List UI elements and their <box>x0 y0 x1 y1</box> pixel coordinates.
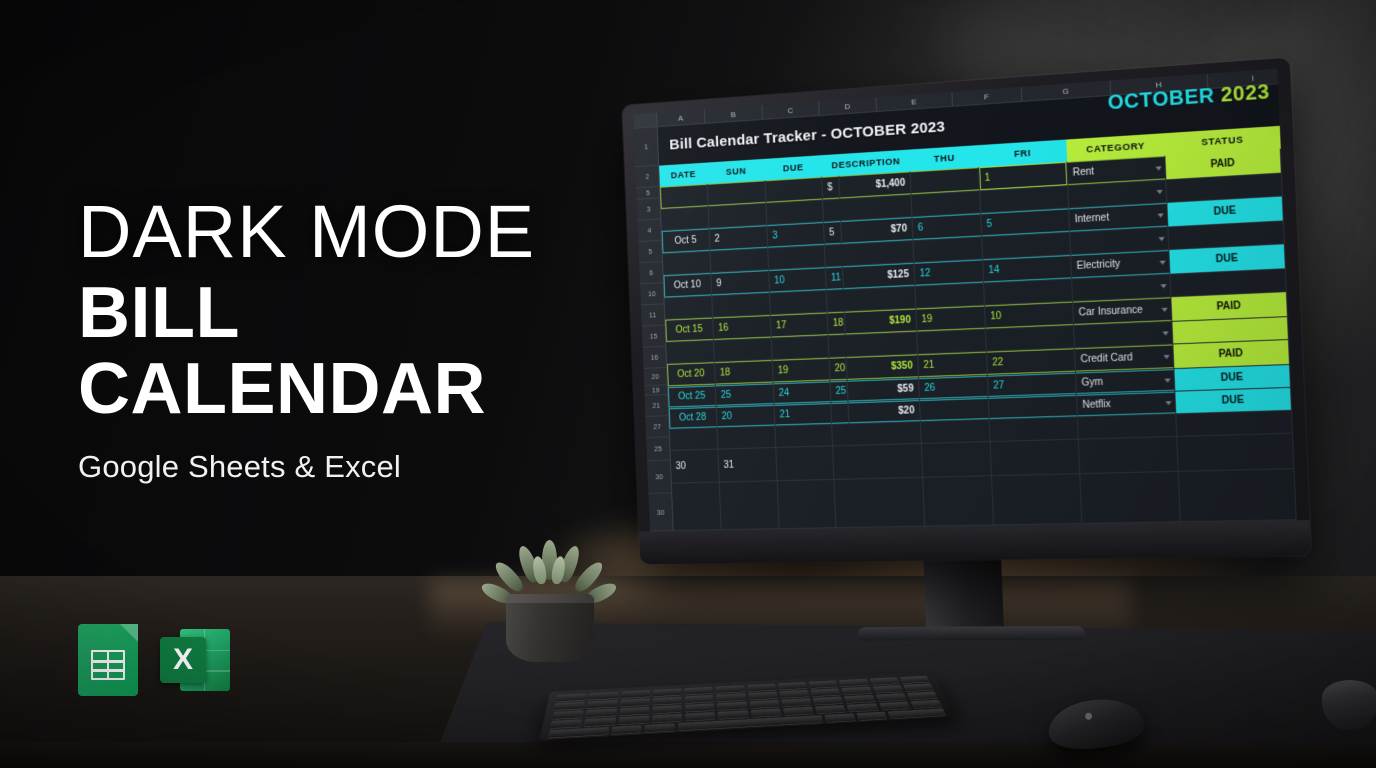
cell-due[interactable]: 17 <box>771 313 829 338</box>
monitor-stand-base <box>856 626 1087 641</box>
cell-date[interactable] <box>664 296 713 318</box>
cell-desc-day[interactable]: 5 <box>824 221 842 245</box>
cell-category[interactable] <box>1079 437 1179 473</box>
page-title-line-3: CALENDAR <box>78 351 638 427</box>
cell-desc-day[interactable]: 20 <box>829 357 847 380</box>
row-number[interactable]: 20 <box>643 368 666 386</box>
cell-date[interactable]: Oct 15 <box>665 318 714 342</box>
cell-amount[interactable] <box>829 332 918 356</box>
cell-thu[interactable]: 19 <box>916 306 986 332</box>
cell-sun[interactable]: 25 <box>716 383 775 405</box>
cell-amount[interactable]: $1,400 <box>839 171 911 198</box>
cell-status[interactable]: PAID <box>1171 292 1288 321</box>
row-number[interactable]: 25 <box>646 437 670 461</box>
cell-due[interactable]: 21 <box>775 403 833 425</box>
desk-scene: A B C D E F G H I J 1 <box>0 0 1376 768</box>
page-subtitle: Google Sheets & Excel <box>78 449 638 485</box>
desk-front-edge <box>0 742 1376 768</box>
cell-thu[interactable] <box>912 191 982 216</box>
cell-amount[interactable]: $70 <box>841 217 913 244</box>
row-number[interactable]: 15 <box>642 326 666 348</box>
cell-date[interactable]: 30 <box>670 450 719 483</box>
row-number[interactable]: 3 <box>637 198 661 220</box>
cell-due[interactable] <box>765 177 823 203</box>
cell-sun[interactable] <box>708 180 767 206</box>
cell-category-label: Credit Card <box>1080 352 1133 365</box>
cell-thu[interactable] <box>921 420 991 443</box>
cell-status[interactable]: DUE <box>1174 365 1291 391</box>
row-number[interactable]: 30 <box>647 461 671 494</box>
cell-category[interactable]: Electricity <box>1071 250 1170 278</box>
cell-thu[interactable] <box>920 398 990 421</box>
cell-desc-day[interactable]: 18 <box>828 312 846 335</box>
status-badge: DUE <box>1175 388 1291 413</box>
chevron-down-icon[interactable] <box>1158 236 1164 240</box>
monitor-stand-neck <box>923 551 1004 630</box>
cell-date[interactable] <box>672 483 722 530</box>
row-number[interactable]: 5 <box>638 241 662 263</box>
cell-category-label: Electricity <box>1076 259 1120 272</box>
cell-due[interactable]: 24 <box>774 381 832 404</box>
cell-amount[interactable]: $20 <box>848 400 920 423</box>
row-number[interactable]: 30 <box>648 493 672 531</box>
cell-category[interactable] <box>1074 322 1173 347</box>
cell-amount[interactable] <box>833 444 923 479</box>
cell-fri[interactable] <box>992 474 1082 524</box>
cell-amount[interactable] <box>827 287 916 312</box>
cell-fri[interactable]: 27 <box>988 373 1077 397</box>
chevron-down-icon[interactable] <box>1165 401 1171 405</box>
cell-due[interactable] <box>772 336 830 359</box>
row-number[interactable]: 1 <box>634 127 658 167</box>
cell-category[interactable] <box>1080 472 1181 523</box>
cell-thu[interactable] <box>915 283 985 307</box>
spreadsheet-app: A B C D E F G H I J 1 <box>633 69 1296 532</box>
cell-category[interactable]: Credit Card <box>1075 344 1174 371</box>
chevron-down-icon[interactable] <box>1161 307 1167 311</box>
table-body: $ $1,400 1 Rent PAID <box>660 149 1297 531</box>
cell-category[interactable] <box>1072 275 1171 301</box>
status-badge: DUE <box>1174 365 1290 391</box>
row-number[interactable]: 2 <box>635 166 659 189</box>
cell-date[interactable] <box>660 184 709 209</box>
cell-thu[interactable] <box>911 167 981 194</box>
cell-thu[interactable] <box>913 237 983 262</box>
microsoft-excel-logo: X <box>160 629 230 691</box>
chevron-down-icon[interactable] <box>1164 378 1170 382</box>
cell-sun[interactable]: 31 <box>718 448 777 482</box>
cell-thu[interactable]: 6 <box>912 213 982 240</box>
cell-currency-symbol[interactable]: $ <box>822 176 840 200</box>
cell-date[interactable]: Oct 20 <box>667 362 716 386</box>
cell-fri[interactable]: 14 <box>983 255 1072 282</box>
chevron-down-icon[interactable] <box>1163 354 1169 358</box>
cell-fri[interactable]: 22 <box>987 348 1076 374</box>
cell-sun[interactable]: 16 <box>713 315 772 340</box>
cell-date[interactable] <box>670 428 719 450</box>
cell-date[interactable] <box>663 252 712 275</box>
cell-sun[interactable]: 9 <box>711 270 770 295</box>
chevron-down-icon[interactable] <box>1155 166 1161 170</box>
cell-sun[interactable] <box>712 294 771 317</box>
status-badge: PAID <box>1173 340 1289 368</box>
cell-date[interactable]: Oct 10 <box>664 273 713 298</box>
marketing-copy: DARK MODE BILL CALENDAR Google Sheets & … <box>78 196 638 485</box>
cell-fri[interactable] <box>982 233 1071 259</box>
cell-due[interactable] <box>770 291 828 314</box>
succulent-plant <box>492 538 608 662</box>
cell-thu[interactable] <box>922 442 992 477</box>
cell-sun[interactable] <box>710 249 769 272</box>
plant-pot <box>506 594 594 662</box>
cell-status[interactable] <box>1179 469 1297 521</box>
cell-fri[interactable]: 10 <box>985 302 1074 329</box>
cell-category[interactable]: Car Insurance <box>1073 297 1172 325</box>
row-number[interactable]: 11 <box>641 304 665 326</box>
cell-status[interactable]: DUE <box>1175 388 1292 413</box>
cell-thu[interactable] <box>917 330 987 354</box>
cell-due[interactable]: 10 <box>769 267 827 292</box>
cell-amount[interactable]: $125 <box>843 263 915 289</box>
cell-category-label: Car Insurance <box>1078 305 1143 319</box>
status-badge: PAID <box>1171 292 1287 321</box>
cell-desc-day[interactable]: 11 <box>826 266 844 289</box>
select-all-corner[interactable] <box>633 113 657 128</box>
cell-fri[interactable] <box>990 417 1079 441</box>
cell-sun[interactable]: 20 <box>717 405 776 427</box>
cell-date[interactable]: Oct 5 <box>662 228 711 253</box>
monitor-bezel: A B C D E F G H I J 1 <box>622 57 1311 564</box>
cell-fri[interactable] <box>991 440 1081 476</box>
cell-amount[interactable]: $59 <box>848 378 920 401</box>
monitor: A B C D E F G H I J 1 <box>622 57 1311 564</box>
cell-amount[interactable]: $190 <box>845 309 917 335</box>
excel-x-glyph: X <box>160 637 206 683</box>
cell-sun[interactable] <box>709 204 768 228</box>
cell-due[interactable] <box>768 246 826 269</box>
cell-due[interactable]: 3 <box>767 222 825 248</box>
cell-thu[interactable]: 21 <box>918 352 988 378</box>
header-date[interactable]: DATE <box>659 163 708 187</box>
row-number[interactable]: 4 <box>638 220 662 242</box>
cell-due[interactable] <box>778 480 837 528</box>
row-number[interactable]: 21 <box>645 395 669 417</box>
platform-logos: X <box>78 624 230 696</box>
cell-fri[interactable] <box>984 279 1073 304</box>
cell-fri[interactable] <box>989 395 1078 419</box>
cell-amount[interactable] <box>834 478 925 527</box>
monitor-screen: A B C D E F G H I J 1 <box>633 69 1296 532</box>
cell-sun[interactable] <box>718 426 777 448</box>
cell-due[interactable]: 19 <box>773 358 831 383</box>
month-badge-year: 2023 <box>1220 81 1270 107</box>
cell-category-label: Netflix <box>1082 399 1111 411</box>
cell-due[interactable] <box>766 200 824 224</box>
cell-category-label: Gym <box>1081 377 1103 389</box>
google-sheets-logo <box>78 624 138 696</box>
cell-amount[interactable]: $350 <box>847 354 919 379</box>
row-number[interactable]: 27 <box>645 416 669 438</box>
spreadsheet-grid-icon <box>91 650 125 680</box>
chevron-down-icon[interactable] <box>1160 284 1166 288</box>
chevron-down-icon[interactable] <box>1156 189 1162 193</box>
cell-date[interactable]: Oct 25 <box>668 385 717 407</box>
cell-sun[interactable]: 2 <box>710 225 769 251</box>
cell-amount[interactable] <box>832 422 922 445</box>
cell-date[interactable] <box>661 207 710 230</box>
desk-speaker-puck <box>1322 680 1376 730</box>
cell-category[interactable]: Gym <box>1076 369 1175 394</box>
cell-desc-day[interactable]: 25 <box>830 381 848 402</box>
cell-category-label: Internet <box>1074 212 1109 225</box>
cell-desc-day[interactable] <box>831 402 849 423</box>
cell-status[interactable] <box>1176 411 1293 436</box>
chevron-down-icon[interactable] <box>1159 260 1165 264</box>
cell-category-label: Rent <box>1073 166 1095 178</box>
cell-sun[interactable]: 18 <box>715 360 774 385</box>
cell-category[interactable]: Netflix <box>1077 392 1176 417</box>
cell-thu[interactable]: 26 <box>919 376 989 399</box>
cell-status[interactable] <box>1177 434 1294 471</box>
cell-fri[interactable] <box>986 326 1075 351</box>
spreadsheet-grid: Bill Calendar Tracker - OCTOBER 2023 OCT… <box>658 84 1297 531</box>
row-number[interactable]: 10 <box>640 283 664 305</box>
cell-sun[interactable] <box>720 481 780 529</box>
chevron-down-icon[interactable] <box>1162 331 1168 335</box>
cell-fri[interactable]: 5 <box>981 208 1070 236</box>
cell-due[interactable] <box>775 425 833 447</box>
cell-status[interactable]: PAID <box>1173 340 1290 368</box>
chevron-down-icon[interactable] <box>1157 213 1163 217</box>
row-number[interactable]: 16 <box>643 347 667 369</box>
cell-status[interactable] <box>1172 317 1289 343</box>
row-number[interactable]: 6 <box>639 262 663 284</box>
page-title-line-2: BILL <box>78 275 638 351</box>
sheet-title: Bill Calendar Tracker - OCTOBER 2023 <box>658 118 946 155</box>
cell-thu[interactable]: 12 <box>914 259 984 285</box>
cell-due[interactable] <box>776 446 834 480</box>
page-title-line-1: DARK MODE <box>78 196 638 269</box>
cell-thu[interactable] <box>923 476 994 525</box>
cell-date[interactable] <box>666 341 715 363</box>
document-fold-corner <box>120 624 138 642</box>
cell-sun[interactable] <box>714 338 773 361</box>
cell-date[interactable]: Oct 28 <box>669 407 718 429</box>
cell-category[interactable] <box>1078 414 1177 438</box>
